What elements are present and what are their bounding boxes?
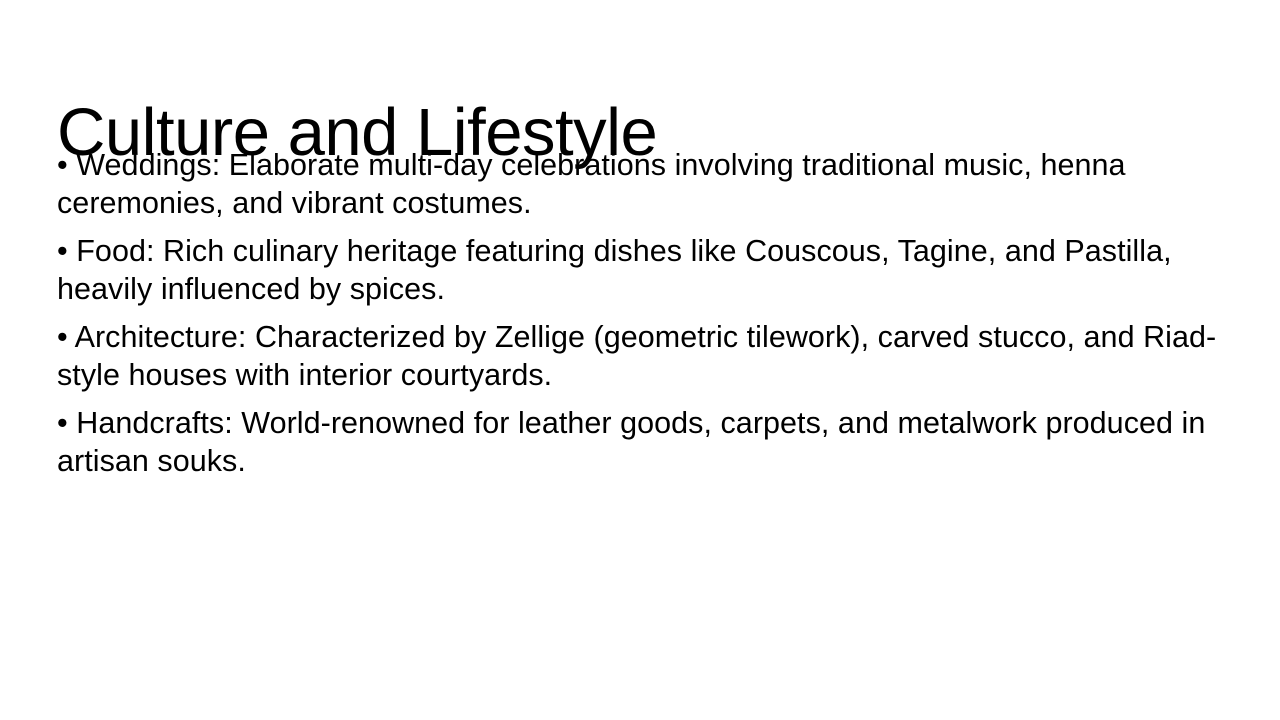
slide-body-content: • Weddings: Elaborate multi-day celebrat… [57, 146, 1219, 480]
bullet-item-food: • Food: Rich culinary heritage featuring… [57, 232, 1219, 308]
bullet-item-weddings: • Weddings: Elaborate multi-day celebrat… [57, 146, 1219, 222]
presentation-slide: Culture and Lifestyle • Weddings: Elabor… [0, 0, 1280, 720]
bullet-item-architecture: • Architecture: Characterized by Zellige… [57, 318, 1219, 394]
bullet-item-handcrafts: • Handcrafts: World-renowned for leather… [57, 404, 1219, 480]
